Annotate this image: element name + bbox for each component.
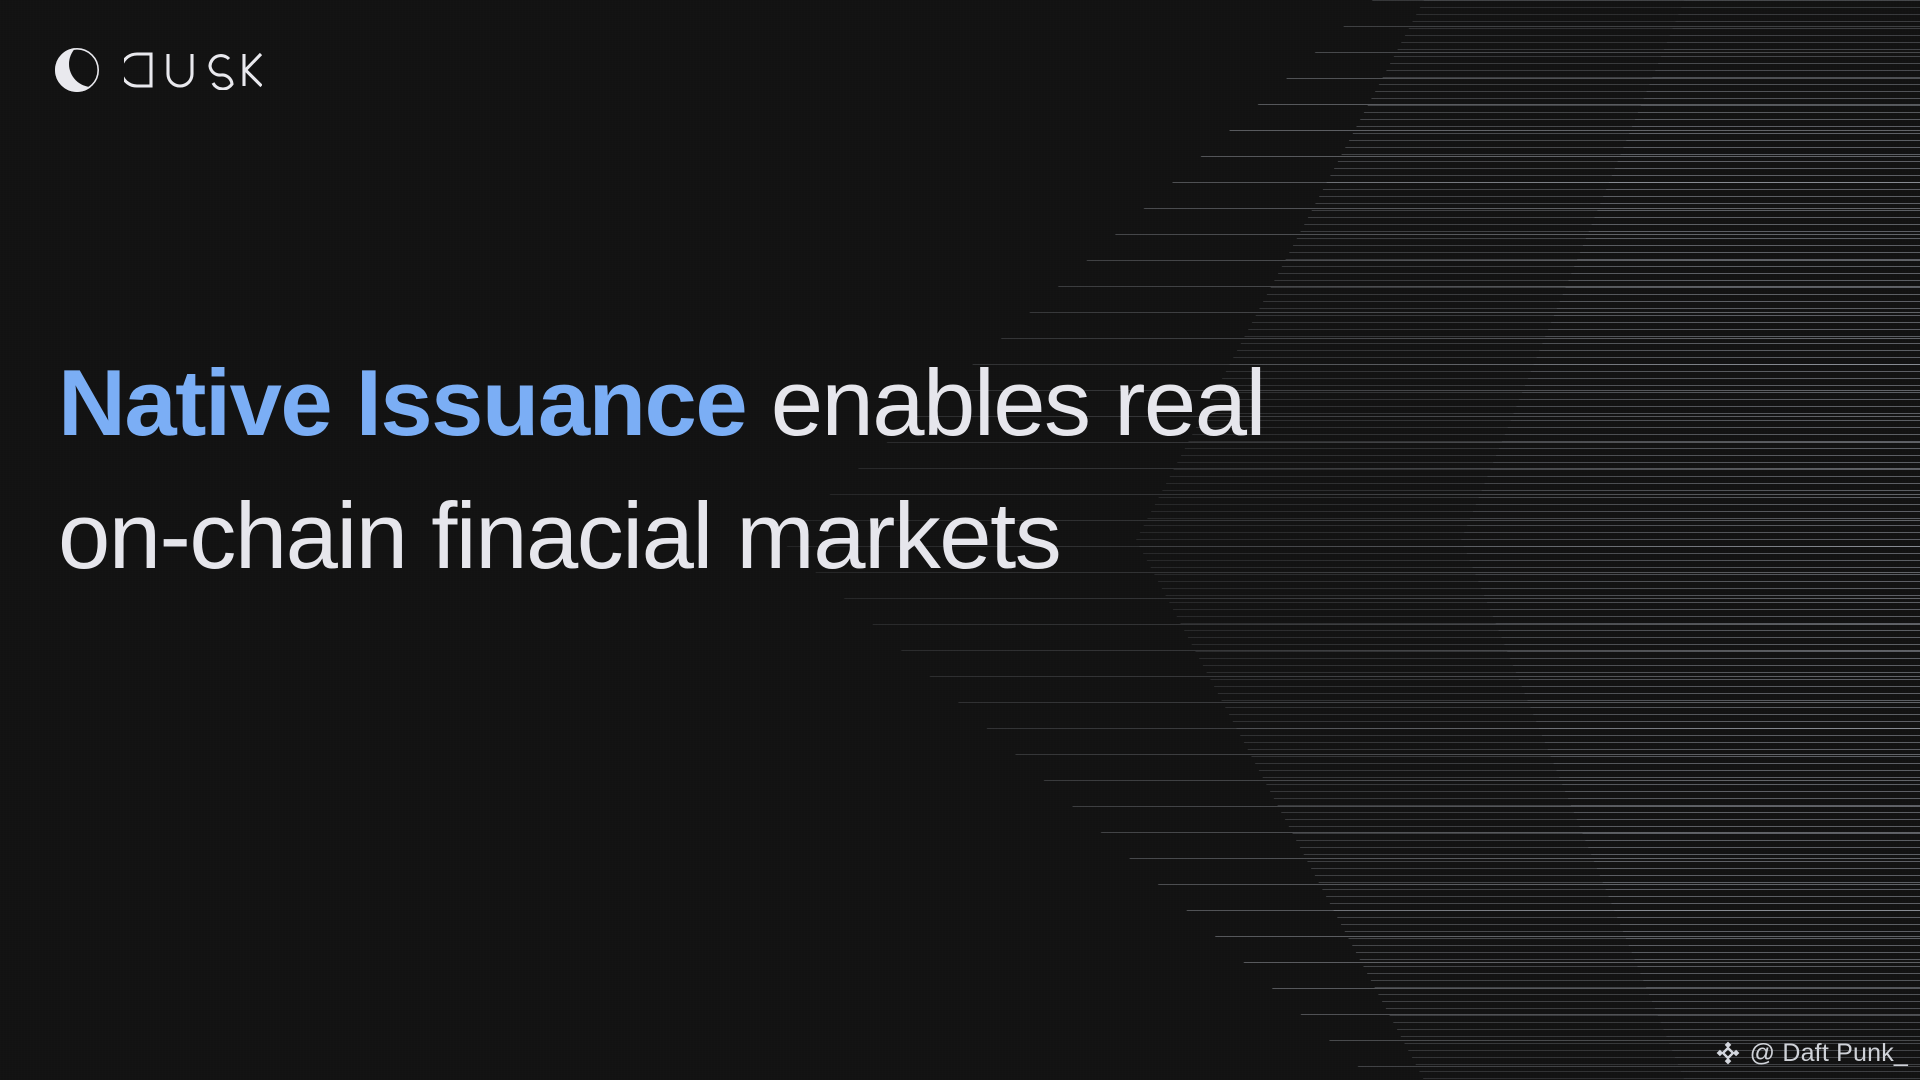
promo-banner: Native Issuance enables real on-chain fi…	[0, 0, 1920, 1080]
binance-diamond-icon	[1715, 1040, 1741, 1066]
page-title: Native Issuance enables real on-chain fi…	[58, 336, 1278, 603]
brand-lockup	[50, 42, 262, 98]
headline-accent: Native Issuance	[58, 350, 746, 455]
dusk-crescent-logo-icon	[50, 42, 106, 98]
headline-line-2: on-chain finacial markets	[58, 469, 1278, 602]
dusk-wordmark	[124, 50, 262, 90]
headline-line-1: Native Issuance enables real	[58, 336, 1278, 469]
stripe-layer-inner	[1300, 0, 1920, 1080]
watermark-label: @ Daft Punk_	[1750, 1041, 1908, 1066]
headline-line-1-rest: enables real	[746, 350, 1265, 455]
watermark: @ Daft Punk_	[1715, 1040, 1908, 1066]
